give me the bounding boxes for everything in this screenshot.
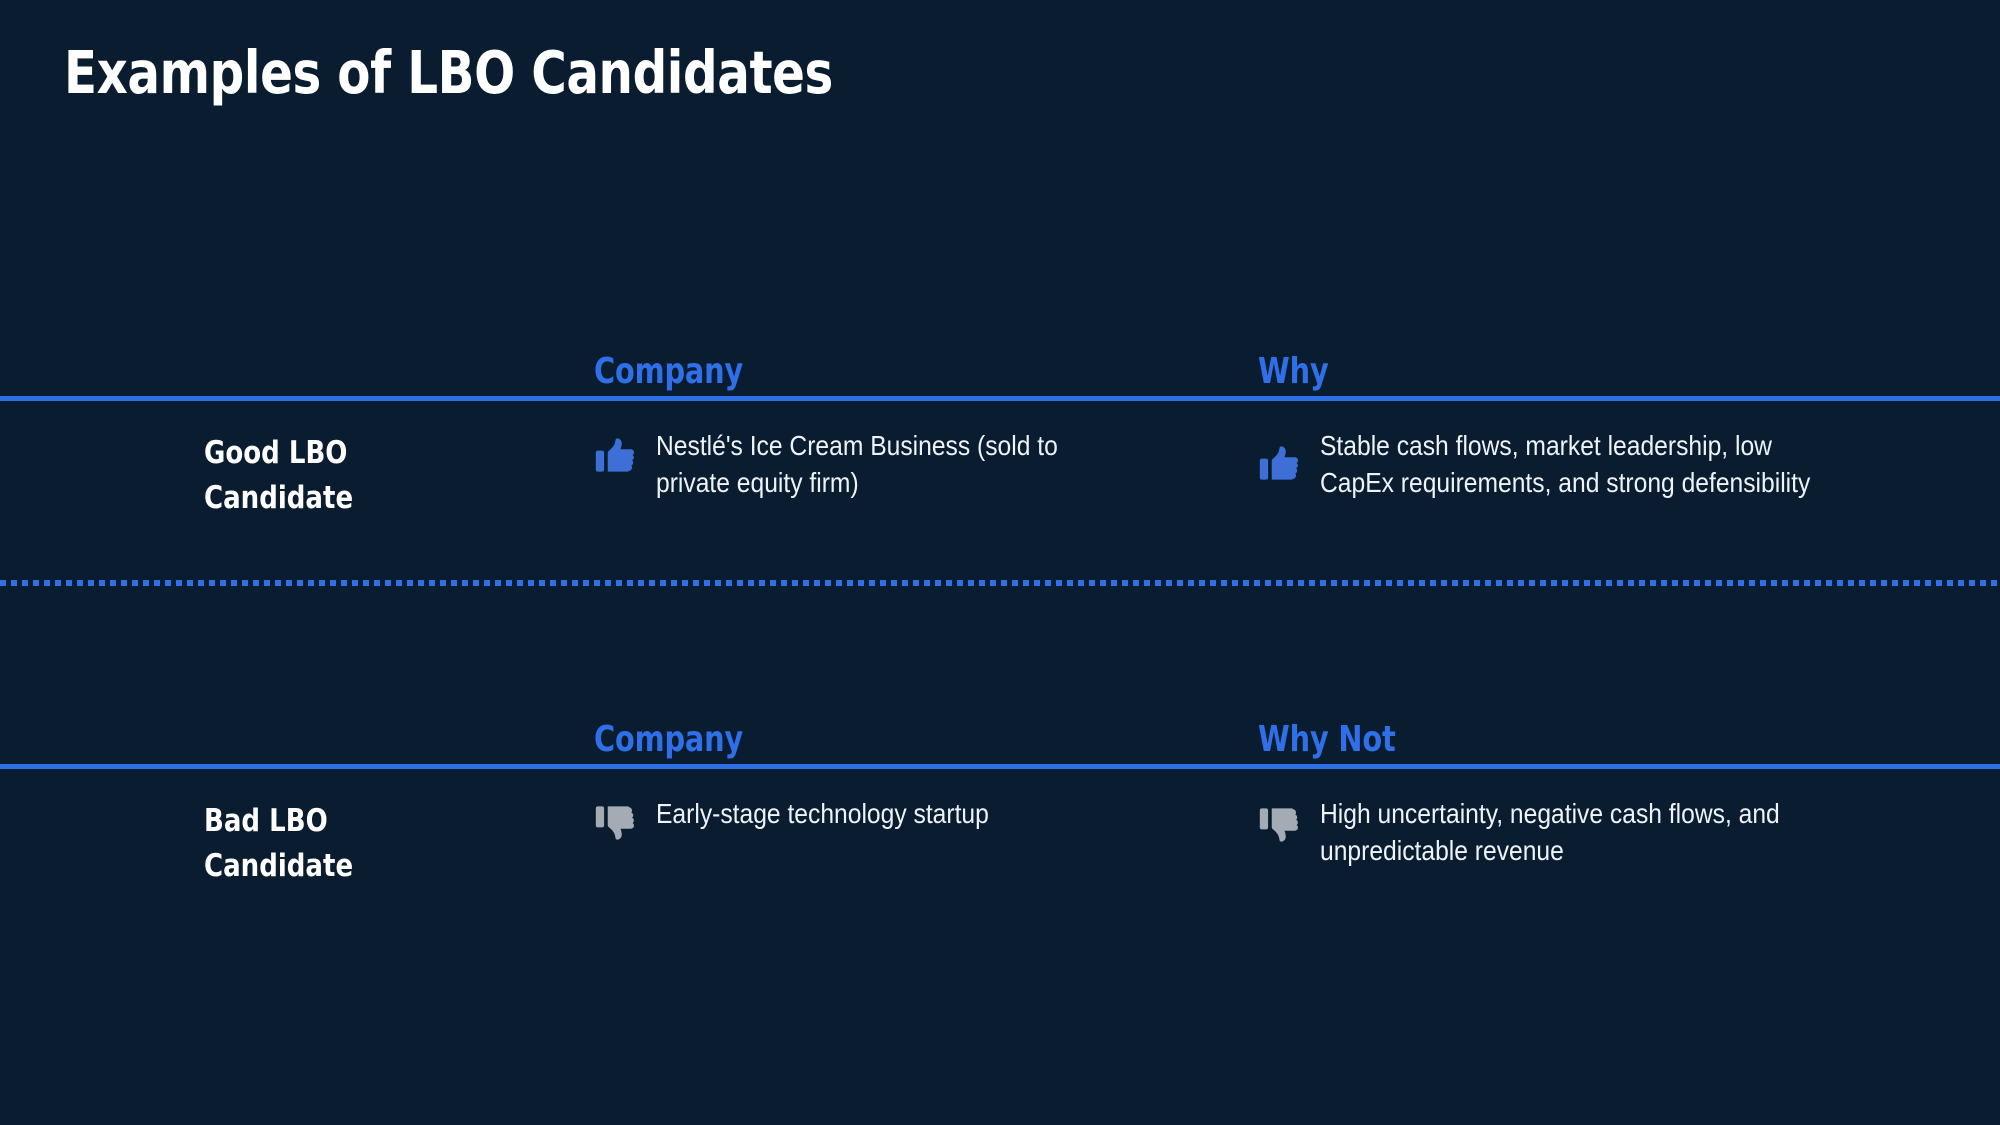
cell-text-bad-why-not: High uncertainty, negative cash flows, a…	[1320, 795, 1811, 869]
thumbs-down-icon	[1258, 801, 1302, 845]
cell-text-good-company: Nestlé's Ice Cream Business (sold to pri…	[656, 427, 1094, 501]
section-good-lbo-candidate: Company Why Good LBO Candidate Nestlé's …	[0, 320, 2000, 577]
section-divider-dotted	[0, 580, 2000, 586]
thumbs-up-icon	[594, 435, 638, 479]
cell-bad-company: Early-stage technology startup	[594, 795, 1154, 843]
column-header-row-good: Company Why	[0, 320, 2000, 396]
table-row-bad: Bad LBO Candidate Early-stage technology…	[0, 769, 2000, 945]
cell-good-why: Stable cash flows, market leadership, lo…	[1258, 427, 1878, 501]
column-header-why-not: Why Not	[1258, 719, 1396, 760]
column-header-company: Company	[594, 351, 743, 392]
table-row-good: Good LBO Candidate Nestlé's Ice Cream Bu…	[0, 401, 2000, 577]
row-label-good-lbo-candidate: Good LBO Candidate	[204, 431, 481, 521]
cell-text-bad-company: Early-stage technology startup	[656, 795, 989, 832]
row-label-bad-lbo-candidate: Bad LBO Candidate	[204, 799, 481, 889]
column-header-why: Why	[1258, 351, 1329, 392]
cell-good-company: Nestlé's Ice Cream Business (sold to pri…	[594, 427, 1154, 501]
section-bad-lbo-candidate: Company Why Not Bad LBO Candidate Early-…	[0, 688, 2000, 945]
page-title: Examples of LBO Candidates	[64, 38, 833, 107]
column-header-company: Company	[594, 719, 743, 760]
thumbs-down-icon	[594, 799, 638, 843]
cell-bad-why-not: High uncertainty, negative cash flows, a…	[1258, 795, 1878, 869]
thumbs-up-icon	[1258, 443, 1302, 487]
column-header-row-bad: Company Why Not	[0, 688, 2000, 764]
cell-text-good-why: Stable cash flows, market leadership, lo…	[1320, 427, 1811, 501]
